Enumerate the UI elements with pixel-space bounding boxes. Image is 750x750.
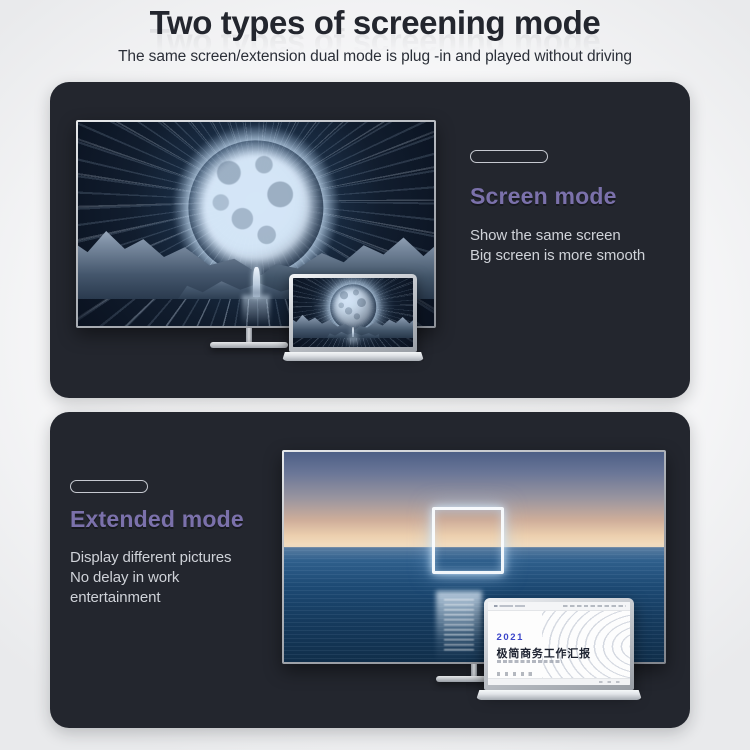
slide-footer-icons	[497, 672, 534, 676]
screen-mode-description-line: Show the same screen	[470, 226, 690, 246]
page-header: Two types of screening mode Two types of…	[0, 0, 750, 80]
page-subtitle: The same screen/extension dual mode is p…	[0, 48, 750, 66]
card-extended-mode: Extended mode Display different pictures…	[50, 412, 690, 728]
slide-headline: 极简商务工作汇报	[497, 645, 591, 661]
extended-mode-description-line: No delay in work	[70, 568, 300, 588]
laptop-base	[282, 352, 424, 361]
laptop-lid	[289, 274, 417, 352]
neon-square-icon	[432, 507, 504, 574]
tv-stand-foot	[210, 342, 288, 348]
presentation-slide: 2021 极简商务工作汇报	[488, 602, 630, 685]
extended-mode-description: Display different pictures No delay in w…	[70, 548, 300, 608]
lake-moon-reflection	[242, 295, 270, 326]
screen-mode-title: Screen mode	[470, 183, 690, 210]
toolbar-right-menu	[563, 605, 625, 608]
moon-craters	[188, 140, 323, 275]
laptop-screen-content-moon	[293, 278, 413, 347]
moon-star-trails-scene-mirrored	[293, 278, 413, 347]
moonlight-sparkles	[444, 599, 474, 654]
extended-mode-description-line: Display different pictures	[70, 548, 300, 568]
slide-subtext-lines	[497, 660, 562, 663]
pill-outline-icon	[470, 150, 548, 163]
tower-silhouette	[253, 267, 259, 298]
slide-status-bar	[488, 678, 630, 685]
card-screen-mode: Screen mode Show the same screen Big scr…	[50, 82, 690, 398]
extended-mode-title: Extended mode	[70, 506, 300, 533]
pill-outline-icon	[70, 480, 148, 493]
moon-icon	[330, 284, 376, 330]
moon-craters	[330, 284, 376, 330]
extended-mode-text-block: Extended mode Display different pictures…	[70, 480, 300, 608]
moon-icon	[188, 140, 323, 275]
screen-mode-description: Show the same screen Big screen is more …	[470, 226, 690, 266]
laptop-base	[476, 690, 642, 700]
lake-moon-reflection	[348, 337, 358, 347]
status-bar-controls	[599, 681, 625, 683]
laptop-screen-content-presentation: 2021 极简商务工作汇报	[488, 602, 630, 685]
screen-mode-text-block: Screen mode Show the same screen Big scr…	[470, 150, 690, 266]
laptop-screen-mode	[282, 274, 424, 361]
screen-mode-description-line: Big screen is more smooth	[470, 246, 690, 266]
slide-app-toolbar	[488, 602, 630, 611]
page-title: Two types of screening mode	[0, 4, 750, 42]
extended-mode-description-line: entertainment	[70, 588, 300, 608]
title-wrap: Two types of screening mode Two types of…	[0, 0, 750, 44]
slide-year: 2021	[497, 632, 525, 643]
toolbar-left-controls	[494, 605, 525, 608]
laptop-extended-mode: 2021 极简商务工作汇报	[476, 598, 642, 700]
laptop-lid: 2021 极简商务工作汇报	[484, 598, 634, 690]
